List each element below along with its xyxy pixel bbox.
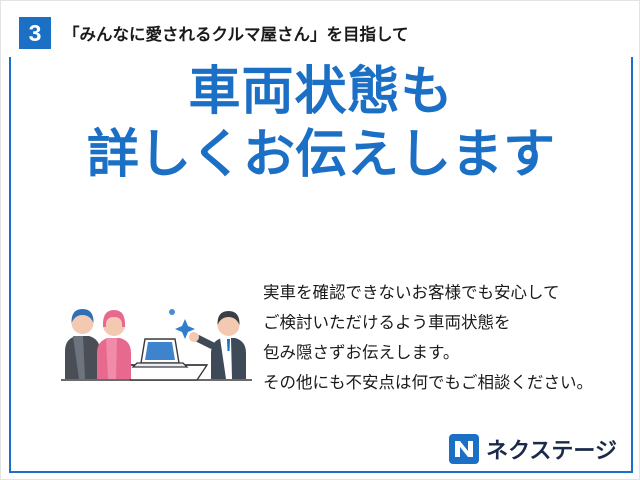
- body-line-3: 包み隠さずお伝えします。: [263, 343, 611, 364]
- body-copy: 実車を確認できないお客様でも安心して ご検討いただけるよう車両状態を 包み隠さず…: [263, 283, 611, 394]
- brand-logo: ネクステージ: [449, 433, 617, 465]
- headline-block: 車両状態も 詳しくお伝えします: [1, 61, 640, 188]
- page-header: 3 「みんなに愛されるクルマ屋さん」を目指して: [9, 9, 633, 59]
- advertisement-page: 3 「みんなに愛されるクルマ屋さん」を目指して 車両状態も 詳しくお伝えします: [0, 0, 640, 480]
- headline-line-2: 詳しくお伝えします: [1, 124, 640, 187]
- body-line-4: その他にも不安点は何でもご相談ください。: [263, 373, 611, 394]
- brand-logo-text: ネクステージ: [486, 433, 617, 465]
- customers-and-staff-illustration: [59, 279, 254, 389]
- headline-line-1: 車両状態も: [1, 61, 640, 124]
- body-line-1: 実車を確認できないお客様でも安心して: [263, 283, 611, 304]
- nexstage-n-mark-icon: [449, 434, 479, 464]
- step-number-badge: 3: [19, 17, 51, 49]
- page-title: 「みんなに愛されるクルマ屋さん」を目指して: [63, 21, 409, 45]
- body-line-2: ご検討いただけるよう車両状態を: [263, 313, 611, 334]
